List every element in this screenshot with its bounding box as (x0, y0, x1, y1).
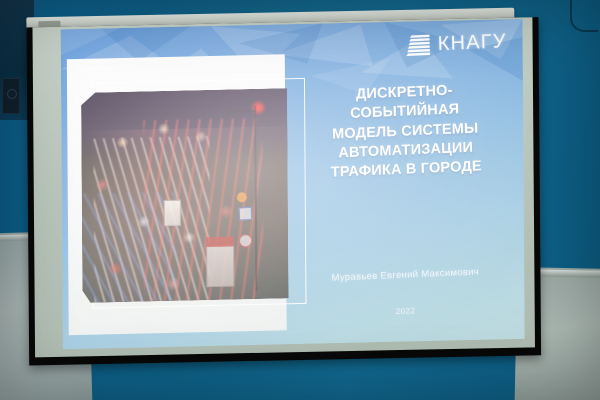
knagu-logo: КНАГУ (405, 28, 507, 58)
knagu-emblem-icon (405, 31, 432, 58)
projector-screen-assembly: КНАГУ ДИСКРЕТНО- СОБЫТИЙНАЯ МОДЕЛЬ СИСТЕ… (0, 0, 600, 400)
night-traffic-jam-photo (81, 88, 288, 303)
slide-title: ДИСКРЕТНО- СОБЫТИЙНАЯ МОДЕЛЬ СИСТЕМЫ АВТ… (292, 79, 518, 185)
knagu-logo-text: КНАГУ (437, 31, 506, 54)
projected-slide: КНАГУ ДИСКРЕТНО- СОБЫТИЙНАЯ МОДЕЛЬ СИСТЕ… (61, 19, 525, 350)
scene: КНАГУ ДИСКРЕТНО- СОБЫТИЙНАЯ МОДЕЛЬ СИСТЕ… (0, 0, 600, 400)
projector-wash (81, 88, 288, 303)
